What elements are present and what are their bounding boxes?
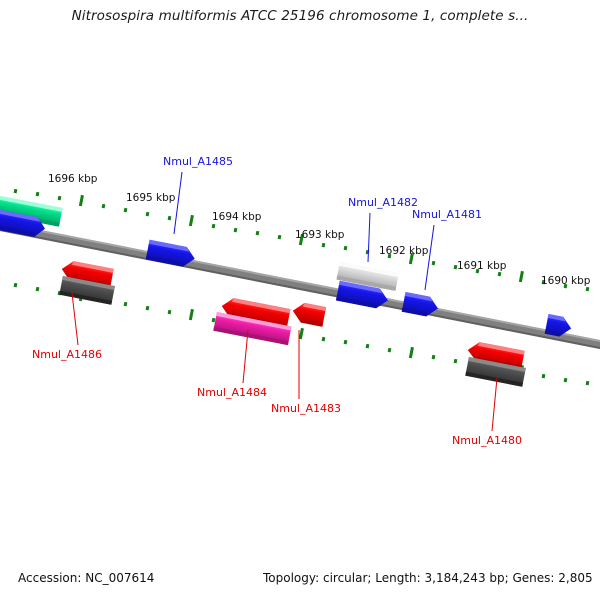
ruler-tick-labels: 1696 kbp 1695 kbp 1694 kbp 1693 kbp 1692…: [48, 173, 591, 287]
gene-glyph-Nmul_A1483[interactable]: [291, 301, 326, 327]
genome-track-canvas: 1696 kbp 1695 kbp 1694 kbp 1693 kbp 1692…: [0, 0, 600, 600]
ruler-tick-label: 1695 kbp: [126, 192, 176, 204]
sequence-summary-text: Topology: circular; Length: 3,184,243 bp…: [263, 571, 593, 585]
ruler-tick-label: 1693 kbp: [295, 229, 345, 241]
leader-line-Nmul_A1482: [368, 213, 370, 262]
ruler-tick-label: 1692 kbp: [379, 245, 429, 257]
ruler-tick-label: 1694 kbp: [212, 211, 262, 223]
accession-text: Accession: NC_007614: [18, 571, 154, 585]
leader-line-Nmul_A1480: [492, 378, 497, 431]
gene-label-Nmul_A1485[interactable]: Nmul_A1485: [163, 155, 233, 168]
gene-label-Nmul_A1482[interactable]: Nmul_A1482: [348, 196, 418, 209]
ruler-tick-label: 1696 kbp: [48, 173, 98, 185]
gene-label-Nmul_A1484[interactable]: Nmul_A1484: [197, 386, 267, 399]
leader-line-Nmul_A1486: [72, 293, 78, 345]
gene-label-Nmul_A1481[interactable]: Nmul_A1481: [412, 208, 482, 221]
gene-label-Nmul_A1480[interactable]: Nmul_A1480: [452, 434, 522, 447]
gene-label-Nmul_A1483[interactable]: Nmul_A1483: [271, 402, 341, 415]
ruler-tick-label: 1690 kbp: [541, 275, 591, 287]
genome-viewer: Nitrosospira multiformis ATCC 25196 chro…: [0, 0, 600, 600]
leader-line-Nmul_A1481: [425, 225, 434, 290]
ruler-tick-label: 1691 kbp: [457, 260, 507, 272]
leader-line-Nmul_A1484: [243, 330, 248, 383]
gene-label-Nmul_A1486[interactable]: Nmul_A1486: [32, 348, 102, 361]
